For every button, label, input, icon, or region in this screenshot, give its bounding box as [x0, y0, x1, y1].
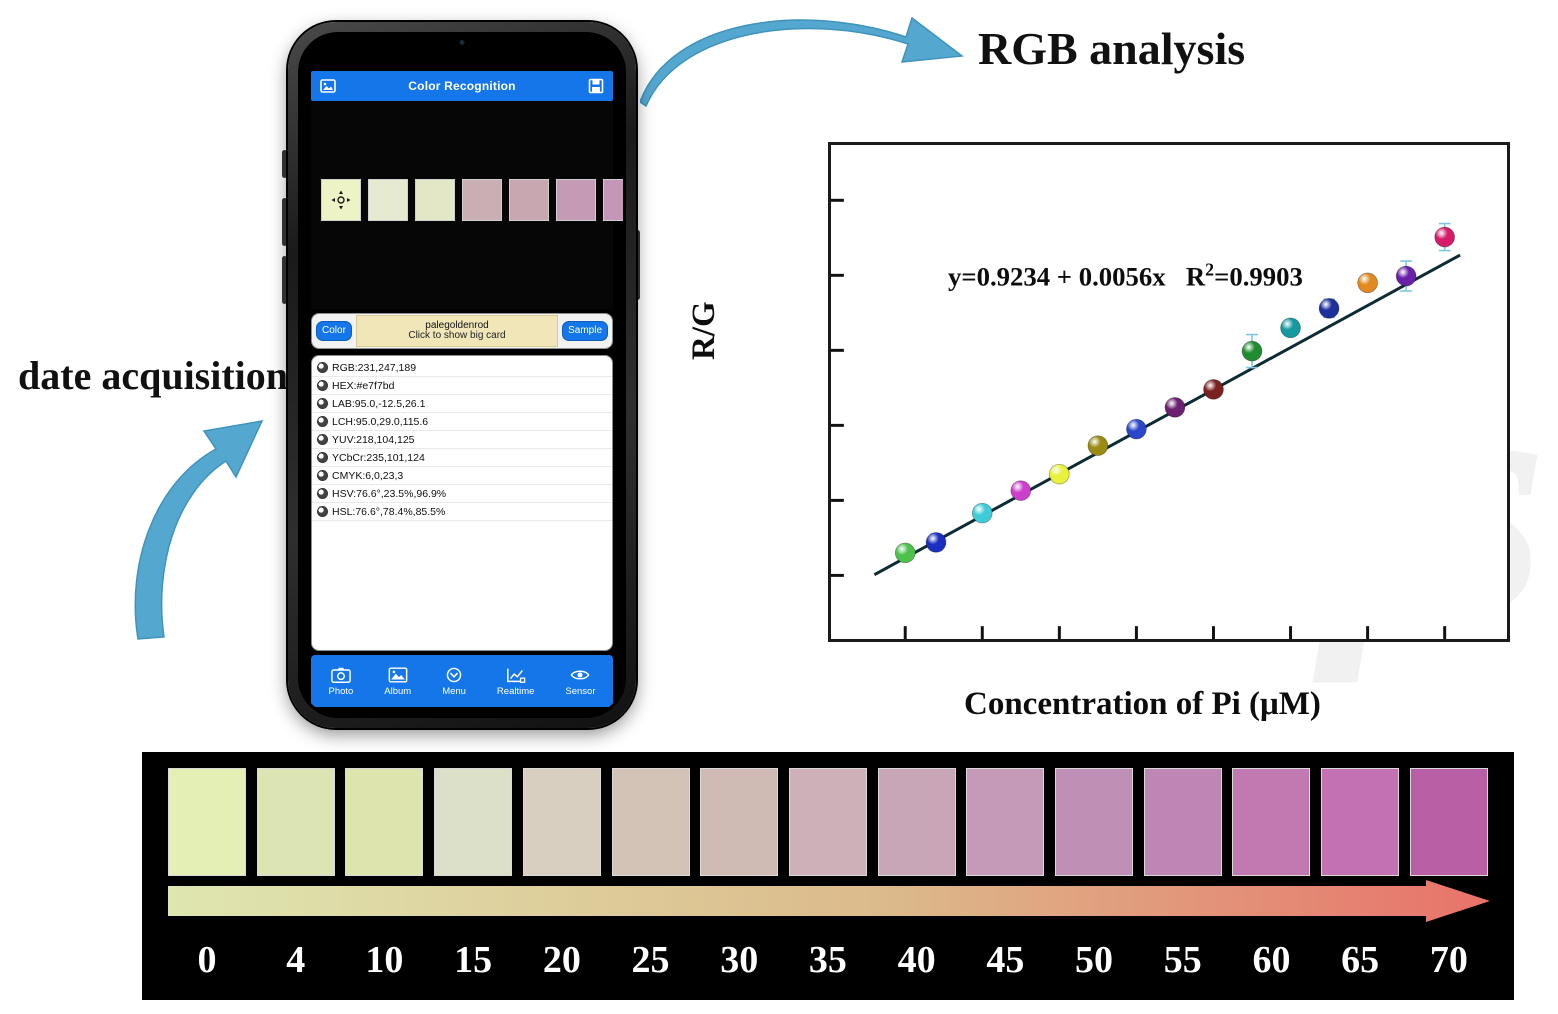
bullet-icon: [317, 362, 328, 373]
strip-swatch: [257, 768, 335, 876]
bottom-navigation-bar: Photo Album Menu: [311, 655, 613, 707]
strip-swatch: [1144, 768, 1222, 876]
data-point: [1088, 436, 1108, 456]
crosshair-target-icon: [331, 190, 351, 210]
arrow-to-rgb-analysis-icon: [640, 10, 970, 120]
strip-swatch: [345, 768, 423, 876]
sample-button[interactable]: Sample: [562, 321, 608, 341]
preview-swatch-row: [321, 179, 626, 221]
strip-number: 4: [257, 938, 335, 982]
color-button[interactable]: Color: [316, 321, 352, 341]
phone-volume-up-button[interactable]: [282, 198, 287, 246]
regression-line: [874, 255, 1460, 575]
y-axis-title: R/G: [686, 301, 723, 360]
colorimetric-strip-panel: 0 4 10 15 20 25 30 35 40 45 50 55 60 65 …: [142, 752, 1514, 1000]
strip-number: 70: [1410, 938, 1488, 982]
list-item[interactable]: HSV:76.6°,23.5%,96.9%: [312, 485, 612, 503]
value-text: CMYK:6,0,23,3: [332, 470, 403, 482]
calibration-chart: 0.91.01.11.21.31.4010203040506070y=0.923…: [828, 142, 1510, 642]
preview-swatch[interactable]: [415, 179, 455, 221]
strip-swatch: [1055, 768, 1133, 876]
chart-plot-area: 0.91.01.11.21.31.4010203040506070y=0.923…: [831, 145, 1507, 639]
strip-swatch: [1410, 768, 1488, 876]
strip-swatch: [612, 768, 690, 876]
strip-number: 25: [612, 938, 690, 982]
data-point: [1319, 298, 1339, 318]
regression-equation: y=0.9234 + 0.0056x: [948, 261, 1166, 291]
rgb-analysis-label: RGB analysis: [978, 22, 1245, 75]
smartphone-mockup: Color Recognition: [288, 22, 636, 728]
nav-item-sensor[interactable]: Sensor: [565, 666, 595, 697]
camera-icon: [331, 666, 351, 684]
strip-swatch: [1321, 768, 1399, 876]
value-text: YCbCr:235,101,124: [332, 452, 425, 464]
bullet-icon: [317, 506, 328, 517]
color-values-list: RGB:231,247,189 HEX:#e7f7bd LAB:95.0,-12…: [311, 355, 613, 651]
camera-preview-area: [311, 101, 613, 309]
strip-swatch: [878, 768, 956, 876]
preview-swatch[interactable]: [509, 179, 549, 221]
value-text: RGB:231,247,189: [332, 362, 416, 374]
data-point: [1165, 397, 1185, 417]
data-point: [1011, 481, 1031, 501]
strip-number: 0: [168, 938, 246, 982]
nav-label: Sensor: [565, 686, 595, 697]
list-item[interactable]: HSL:76.6°,78.4%,85.5%: [312, 503, 612, 521]
front-camera-icon: [460, 40, 465, 45]
data-point: [1435, 227, 1455, 247]
album-icon: [388, 666, 408, 684]
strip-number: 10: [345, 938, 423, 982]
strip-number: 60: [1232, 938, 1310, 982]
bullet-icon: [317, 488, 328, 499]
nav-label: Photo: [328, 686, 353, 697]
strip-number: 30: [700, 938, 778, 982]
value-text: HSL:76.6°,78.4%,85.5%: [332, 506, 445, 518]
data-point: [926, 533, 946, 553]
list-item[interactable]: HEX:#e7f7bd: [312, 377, 612, 395]
color-name-bar: Color palegoldenrod Click to show big ca…: [311, 313, 613, 349]
phone-volume-down-button[interactable]: [282, 256, 287, 304]
gradient-arrow-icon: [168, 880, 1490, 922]
bullet-icon: [317, 398, 328, 409]
arrow-to-phone-icon: [120, 415, 270, 645]
save-icon[interactable]: [587, 77, 605, 95]
menu-chevron-icon: [444, 666, 464, 684]
data-point: [972, 503, 992, 523]
app-bar: Color Recognition: [311, 71, 613, 101]
nav-item-album[interactable]: Album: [384, 666, 411, 697]
bullet-icon: [317, 416, 328, 427]
nav-item-realtime[interactable]: Realtime: [497, 666, 535, 697]
list-item[interactable]: YUV:218,104,125: [312, 431, 612, 449]
data-point: [895, 543, 915, 563]
strip-number: 55: [1144, 938, 1222, 982]
preview-swatch[interactable]: [368, 179, 408, 221]
phone-screen: Color Recognition: [298, 32, 626, 718]
strip-number: 45: [966, 938, 1044, 982]
x-axis-title: Concentration of Pi (μM): [964, 686, 1321, 723]
strip-number-row: 0 4 10 15 20 25 30 35 40 45 50 55 60 65 …: [168, 932, 1488, 988]
strip-number: 15: [434, 938, 512, 982]
color-card-hint: Click to show big card: [408, 331, 505, 342]
preview-swatch[interactable]: [603, 179, 626, 221]
strip-number: 40: [878, 938, 956, 982]
eye-sensor-icon: [570, 666, 590, 684]
preview-swatch[interactable]: [321, 179, 361, 221]
strip-number: 20: [523, 938, 601, 982]
data-point: [1242, 341, 1262, 361]
figure-canvas: oofs RGB analysis date acquisition: [0, 0, 1558, 1014]
strip-swatch: [168, 768, 246, 876]
data-point: [1127, 419, 1147, 439]
list-item[interactable]: LCH:95.0,29.0,115.6: [312, 413, 612, 431]
strip-number: 50: [1055, 938, 1133, 982]
list-item[interactable]: YCbCr:235,101,124: [312, 449, 612, 467]
bullet-icon: [317, 434, 328, 445]
strip-swatch: [789, 768, 867, 876]
bullet-icon: [317, 470, 328, 481]
app-title: Color Recognition: [408, 79, 515, 93]
strip-number: 65: [1321, 938, 1399, 982]
data-point: [1396, 266, 1416, 286]
phone-mute-switch[interactable]: [282, 150, 287, 178]
data-point: [1204, 379, 1224, 399]
list-item[interactable]: LAB:95.0,-12.5,26.1: [312, 395, 612, 413]
data-point: [1358, 273, 1378, 293]
strip-swatch: [523, 768, 601, 876]
nav-label: Menu: [442, 686, 466, 697]
value-text: LAB:95.0,-12.5,26.1: [332, 398, 425, 410]
value-text: YUV:218,104,125: [332, 434, 415, 446]
date-acquisition-label: date acquisition: [18, 352, 288, 399]
color-name-card[interactable]: palegoldenrod Click to show big card: [356, 315, 558, 347]
realtime-icon: [506, 666, 526, 684]
nav-item-menu[interactable]: Menu: [442, 666, 466, 697]
list-item[interactable]: CMYK:6,0,23,3: [312, 467, 612, 485]
nav-item-photo[interactable]: Photo: [328, 666, 353, 697]
strip-swatch: [966, 768, 1044, 876]
list-item[interactable]: RGB:231,247,189: [312, 359, 612, 377]
value-text: HEX:#e7f7bd: [332, 380, 394, 392]
value-text: LCH:95.0,29.0,115.6: [332, 416, 428, 428]
bullet-icon: [317, 380, 328, 391]
preview-swatch[interactable]: [462, 179, 502, 221]
data-point: [1049, 464, 1069, 484]
preview-swatch[interactable]: [556, 179, 596, 221]
bullet-icon: [317, 452, 328, 463]
strip-swatch: [434, 768, 512, 876]
value-text: HSV:76.6°,23.5%,96.9%: [332, 488, 446, 500]
strip-number: 35: [789, 938, 867, 982]
strip-swatch: [1232, 768, 1310, 876]
nav-label: Album: [384, 686, 411, 697]
image-pick-icon[interactable]: [319, 77, 337, 95]
nav-label: Realtime: [497, 686, 535, 697]
strip-swatch: [700, 768, 778, 876]
data-point: [1281, 318, 1301, 338]
r-squared-label: R2=0.9903: [1186, 259, 1303, 291]
strip-swatch-row: [168, 768, 1488, 876]
